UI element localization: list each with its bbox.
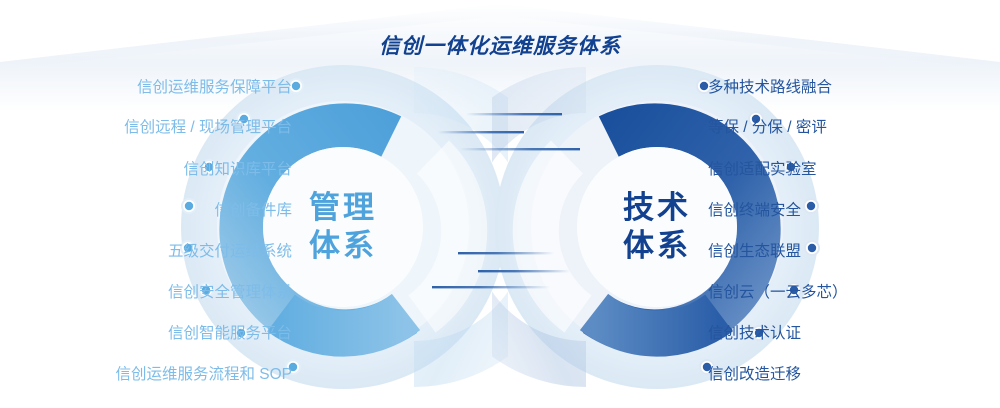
right-label-3[interactable]: 信创适配实验室 xyxy=(708,162,1000,178)
right-label-6[interactable]: 信创云（一云多芯） xyxy=(708,285,1000,301)
right-label-5[interactable]: 信创生态联盟 xyxy=(708,244,1000,260)
right-label-7[interactable]: 信创技术认证 xyxy=(708,326,1000,342)
decorative-speed-lines xyxy=(430,100,620,310)
right-ring-bottom-arc xyxy=(594,312,719,334)
left-label-1[interactable]: 信创运维服务保障平台 xyxy=(0,80,292,96)
left-label-4[interactable]: 信创备件库 xyxy=(0,203,292,219)
right-label-2[interactable]: 等保 / 分保 / 密评 xyxy=(708,120,1000,136)
left-label-7[interactable]: 信创智能服务平台 xyxy=(0,326,292,342)
left-label-5[interactable]: 五级交付运维系统 xyxy=(0,244,292,260)
right-label-4[interactable]: 信创终端安全 xyxy=(708,203,1000,219)
page-title: 信创一体化运维服务体系 xyxy=(0,30,1000,60)
left-ring-bottom-arc xyxy=(281,312,406,334)
diagram-canvas: 信创一体化运维服务体系 xyxy=(0,0,1000,408)
left-label-3[interactable]: 信创知识库平台 xyxy=(0,162,292,178)
left-label-2[interactable]: 信创远程 / 现场管理平台 xyxy=(0,120,292,136)
left-label-column: 信创运维服务保障平台 信创远程 / 现场管理平台 信创知识库平台 信创备件库 五… xyxy=(0,62,292,392)
right-label-1[interactable]: 多种技术路线融合 xyxy=(708,80,1000,96)
right-label-8[interactable]: 信创改造迁移 xyxy=(708,367,1000,383)
right-label-column: 多种技术路线融合 等保 / 分保 / 密评 信创适配实验室 信创终端安全 信创生… xyxy=(708,62,1000,392)
left-label-6[interactable]: 信创安全管理体系 xyxy=(0,285,292,301)
left-label-8[interactable]: 信创运维服务流程和 SOP xyxy=(0,367,292,383)
